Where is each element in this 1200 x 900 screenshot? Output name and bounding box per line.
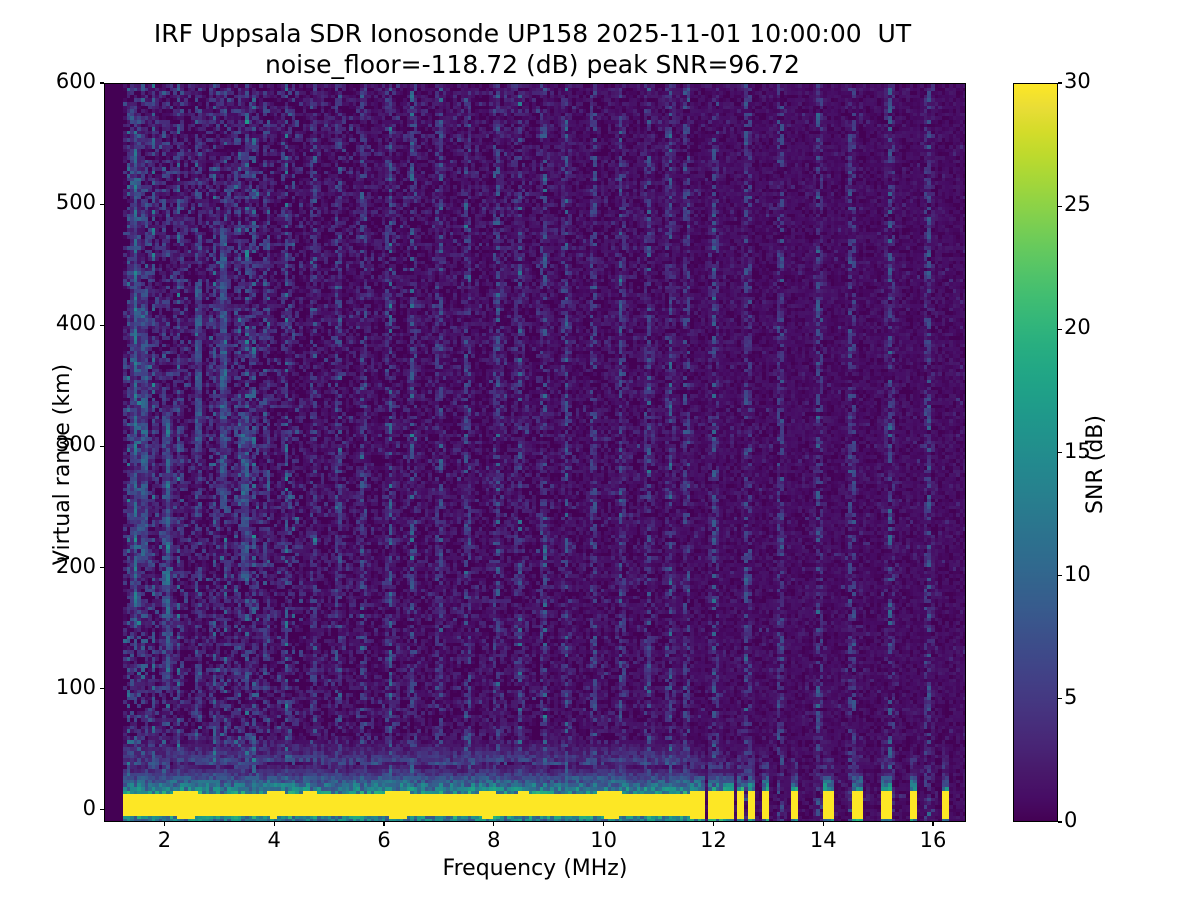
colorbar-tick-label: 30 xyxy=(1064,69,1124,93)
colorbar-tick-mark xyxy=(1058,452,1062,453)
colorbar-gradient xyxy=(1014,84,1057,821)
colorbar-tick-label: 20 xyxy=(1064,315,1124,339)
y-tick-label: 100 xyxy=(16,675,96,699)
x-tick-label: 2 xyxy=(124,828,204,852)
x-tick-mark xyxy=(383,822,384,826)
colorbar-tick-label: 10 xyxy=(1064,562,1124,586)
x-tick-label: 12 xyxy=(673,828,753,852)
x-tick-mark xyxy=(823,822,824,826)
ionogram-figure: IRF Uppsala SDR Ionosonde UP158 2025-11-… xyxy=(0,0,1200,900)
x-tick-mark xyxy=(493,822,494,826)
y-tick-label: 300 xyxy=(16,432,96,456)
colorbar-tick-mark xyxy=(1058,82,1062,83)
y-tick-label: 400 xyxy=(16,311,96,335)
x-tick-mark xyxy=(932,822,933,826)
y-tick-mark xyxy=(100,204,104,205)
y-tick-mark xyxy=(100,82,104,83)
ionogram-axes xyxy=(104,83,966,822)
colorbar-tick-label: 5 xyxy=(1064,685,1124,709)
y-tick-label: 500 xyxy=(16,190,96,214)
x-axis-title: Frequency (MHz) xyxy=(104,856,966,881)
colorbar-tick-label: 15 xyxy=(1064,439,1124,463)
figure-title-line1: IRF Uppsala SDR Ionosonde UP158 2025-11-… xyxy=(154,19,911,48)
figure-title-line2: noise_floor=-118.72 (dB) peak SNR=96.72 xyxy=(0,49,1065,80)
y-tick-label: 200 xyxy=(16,554,96,578)
colorbar-tick-mark xyxy=(1058,329,1062,330)
x-tick-mark xyxy=(603,822,604,826)
x-tick-label: 16 xyxy=(893,828,973,852)
colorbar-tick-mark xyxy=(1058,575,1062,576)
y-tick-mark xyxy=(100,446,104,447)
x-tick-mark xyxy=(713,822,714,826)
x-tick-label: 6 xyxy=(344,828,424,852)
colorbar-tick-label: 0 xyxy=(1064,808,1124,832)
x-tick-label: 14 xyxy=(783,828,863,852)
y-tick-mark xyxy=(100,688,104,689)
x-tick-mark xyxy=(164,822,165,826)
colorbar-tick-mark xyxy=(1058,698,1062,699)
colorbar-tick-label: 25 xyxy=(1064,192,1124,216)
colorbar-tick-mark xyxy=(1058,821,1062,822)
colorbar-tick-mark xyxy=(1058,206,1062,207)
y-tick-label: 600 xyxy=(16,69,96,93)
x-tick-mark xyxy=(274,822,275,826)
y-tick-mark xyxy=(100,567,104,568)
y-tick-mark xyxy=(100,809,104,810)
x-tick-label: 4 xyxy=(234,828,314,852)
x-tick-label: 8 xyxy=(454,828,534,852)
y-tick-label: 0 xyxy=(16,796,96,820)
ionogram-canvas xyxy=(105,84,966,822)
figure-title: IRF Uppsala SDR Ionosonde UP158 2025-11-… xyxy=(0,18,1065,80)
x-tick-label: 10 xyxy=(564,828,644,852)
y-tick-mark xyxy=(100,325,104,326)
ionogram-heatmap xyxy=(105,84,965,821)
colorbar xyxy=(1013,83,1058,822)
